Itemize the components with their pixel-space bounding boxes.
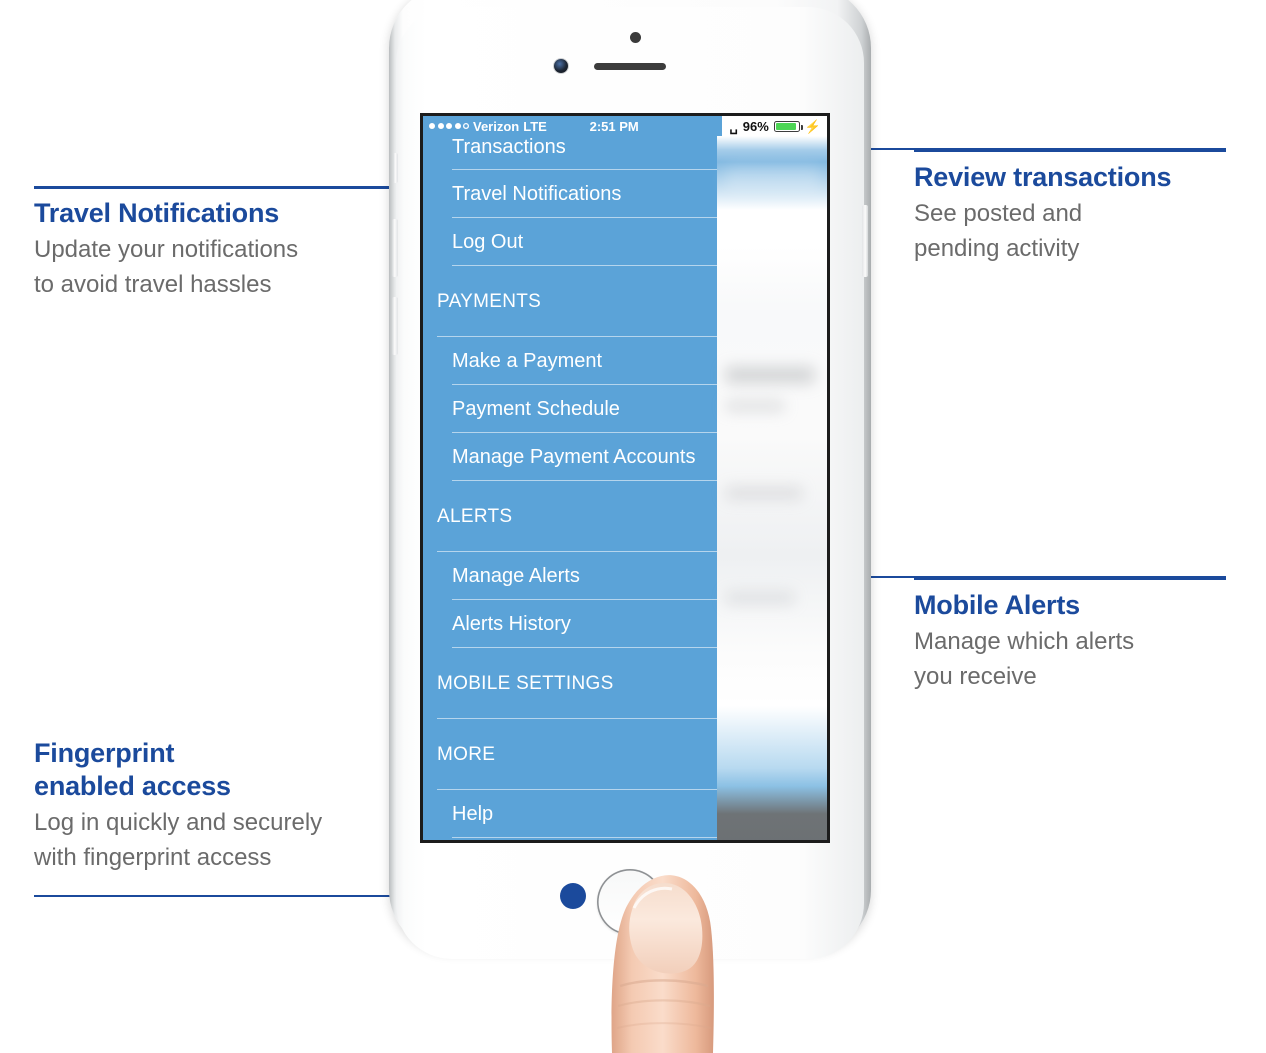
callout-description: Log in quickly and securely with fingerp… <box>34 805 434 875</box>
blurred-content-block <box>725 366 815 384</box>
bluetooth-icon: ␣ <box>730 120 738 133</box>
blurred-content-block <box>725 591 795 605</box>
menu-item-label: Log Out <box>452 231 523 254</box>
menu-item-log-out[interactable]: Log Out <box>423 218 717 266</box>
menu-section-alerts: ALERTS <box>423 481 717 552</box>
menu-item-travel-notifications[interactable]: Travel Notifications <box>423 170 717 218</box>
side-menu-panel: Transactions Travel Notifications Log Ou… <box>423 136 717 840</box>
connector-dot-fingerprint <box>560 883 586 909</box>
menu-section-payments: PAYMENTS <box>423 266 717 337</box>
callout-description: See posted and pending activity <box>914 196 1244 266</box>
menu-item-label: Transactions <box>452 136 566 159</box>
menu-item-manage-payment-accounts[interactable]: Manage Payment Accounts <box>423 433 717 481</box>
menu-item-label: Payment Schedule <box>452 398 620 421</box>
proximity-sensor-icon <box>630 32 641 43</box>
lightning-bolt-icon: ⚡ <box>805 120 821 133</box>
menu-item-label: Travel Notifications <box>452 183 621 206</box>
menu-item-transactions[interactable]: Transactions <box>423 136 717 170</box>
battery-icon <box>774 121 800 132</box>
menu-item-label: Manage Alerts <box>452 565 580 588</box>
menu-section-label: PAYMENTS <box>437 291 541 313</box>
volume-down-button[interactable] <box>392 297 398 355</box>
signal-strength-icon <box>429 123 469 129</box>
front-camera-icon <box>554 59 568 73</box>
callout-fingerprint-access: Fingerprint enabled access Log in quickl… <box>34 737 434 875</box>
callout-rule <box>34 186 434 188</box>
iphone-device: Verizon LTE 2:51 PM ␣ 96% ⚡ Transactions… <box>389 0 871 952</box>
callout-description: Update your notifications to avoid trave… <box>34 232 434 302</box>
silent-switch-button[interactable] <box>393 153 398 183</box>
status-bar-left: Verizon LTE <box>423 116 555 136</box>
screen-body: Transactions Travel Notifications Log Ou… <box>423 136 827 840</box>
callout-title: Review transactions <box>914 161 1244 194</box>
clock-label: 2:51 PM <box>555 116 722 136</box>
status-bar-right: ␣ 96% ⚡ <box>722 116 827 136</box>
callout-title: Mobile Alerts <box>914 589 1244 622</box>
menu-item-manage-alerts[interactable]: Manage Alerts <box>423 552 717 600</box>
phone-screen: Verizon LTE 2:51 PM ␣ 96% ⚡ Transactions… <box>420 113 830 843</box>
menu-item-payment-schedule[interactable]: Payment Schedule <box>423 385 717 433</box>
menu-item-label: Help <box>452 803 493 826</box>
menu-item-make-a-payment[interactable]: Make a Payment <box>423 337 717 385</box>
battery-percent-label: 96% <box>743 119 769 134</box>
callout-description: Manage which alerts you receive <box>914 624 1244 694</box>
callout-mobile-alerts: Mobile Alerts Manage which alerts you re… <box>914 578 1244 694</box>
menu-section-label: MORE <box>437 744 495 766</box>
menu-section-label: ALERTS <box>437 506 512 528</box>
blurred-content-block <box>725 166 820 192</box>
callout-rule <box>914 578 1226 580</box>
callout-title: Travel Notifications <box>34 197 434 230</box>
menu-section-more: MORE <box>423 719 717 790</box>
menu-section-label: MOBILE SETTINGS <box>437 673 614 695</box>
thumb-fingerprint-graphic <box>598 866 724 1053</box>
power-button[interactable] <box>862 205 868 277</box>
menu-item-help[interactable]: Help <box>423 790 717 838</box>
menu-item-label: Alerts History <box>452 613 571 636</box>
menu-item-alerts-history[interactable]: Alerts History <box>423 600 717 648</box>
callout-title: Fingerprint enabled access <box>34 737 434 803</box>
menu-item-label: Make a Payment <box>452 350 602 373</box>
background-content-panel[interactable] <box>717 136 827 840</box>
carrier-label: Verizon <box>473 119 519 134</box>
earpiece-speaker-icon <box>594 63 666 70</box>
volume-up-button[interactable] <box>392 219 398 277</box>
callout-review-transactions: Review transactions See posted and pendi… <box>914 150 1244 266</box>
network-type-label: LTE <box>523 119 547 134</box>
blurred-content-block <box>725 400 785 412</box>
callout-rule <box>914 150 1226 152</box>
menu-item-label: Manage Payment Accounts <box>452 446 695 469</box>
blurred-content-block <box>725 486 803 500</box>
status-bar: Verizon LTE 2:51 PM ␣ 96% ⚡ <box>423 116 827 136</box>
menu-section-mobile-settings: MOBILE SETTINGS <box>423 648 717 719</box>
callout-travel-notifications: Travel Notifications Update your notific… <box>34 186 434 302</box>
